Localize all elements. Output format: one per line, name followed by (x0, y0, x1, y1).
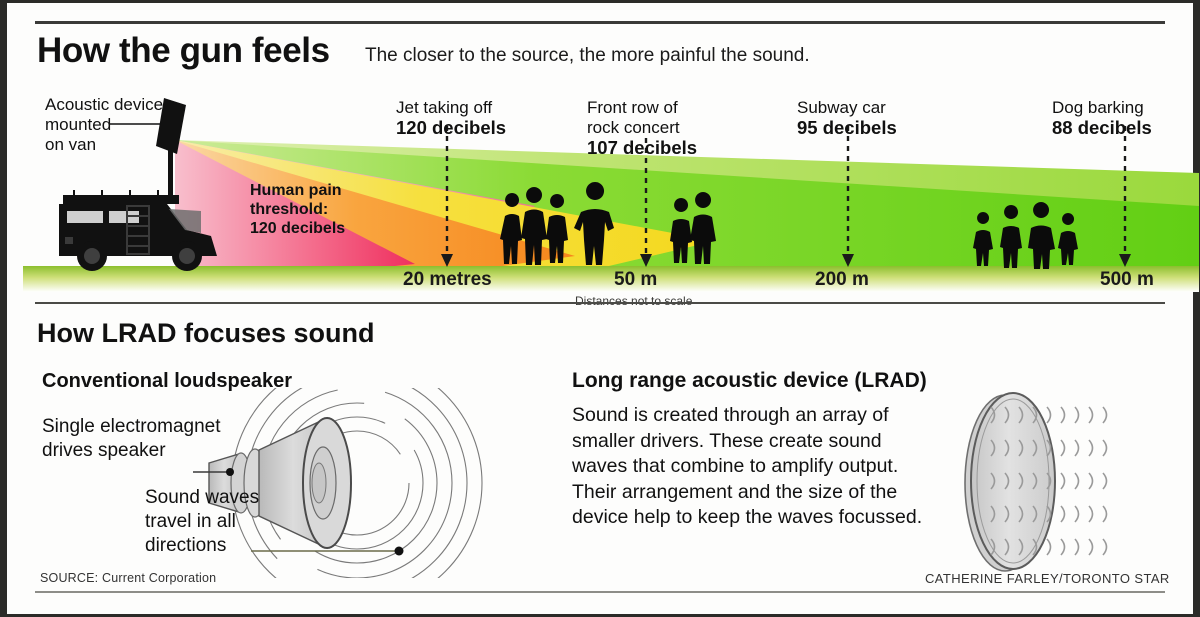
author-credit: CATHERINE FARLEY/TORONTO STAR (925, 571, 1170, 586)
lrad-section-heading: How LRAD focuses sound (37, 318, 375, 349)
electromagnet-callout-line-2: drives speaker (42, 439, 221, 463)
source-credit: SOURCE: Current Corporation (40, 571, 216, 585)
sound-waves-callout-line-2: travel in all (145, 510, 259, 534)
acoustic-device-label-line-2: mounted (45, 115, 163, 135)
marker-value-subway: 95 decibels (797, 117, 897, 138)
section-divider (35, 302, 1165, 304)
page-title: How the gun feels (37, 31, 330, 71)
pain-threshold-line-2: threshold: (250, 200, 345, 219)
sound-waves-callout: Sound waves travel in all directions (145, 486, 259, 558)
scale-note: Distances not to scale (575, 294, 692, 308)
sound-waves-callout-line-3: directions (145, 534, 259, 558)
marker-label-subway: Subway car 95 decibels (797, 98, 897, 139)
acoustic-device-label-line-1: Acoustic device (45, 95, 163, 115)
acoustic-device-label-line-3: on van (45, 135, 163, 155)
marker-name-dog: Dog barking (1052, 98, 1152, 118)
marker-name-subway: Subway car (797, 98, 897, 118)
ground-strip (23, 266, 1199, 292)
page-subtitle: The closer to the source, the more painf… (365, 45, 810, 67)
marker-name-concert-line-2: rock concert (587, 118, 697, 138)
marker-name-concert-line-1: Front row of (587, 98, 697, 118)
marker-value-dog: 88 decibels (1052, 117, 1152, 138)
distance-label-200m: 200 m (815, 269, 869, 291)
acoustic-device-label: Acoustic device mounted on van (45, 95, 163, 155)
marker-label-concert: Front row of rock concert 107 decibels (587, 98, 697, 159)
pain-threshold-callout: Human pain threshold: 120 decibels (250, 181, 345, 238)
marker-label-dog: Dog barking 88 decibels (1052, 98, 1152, 139)
lrad-illustration (947, 385, 1177, 580)
lrad-description: Sound is created through an array of sma… (572, 403, 932, 531)
marker-label-jet: Jet taking off 120 decibels (396, 98, 506, 139)
distance-label-20m: 20 metres (403, 269, 492, 291)
pain-threshold-line-3: 120 decibels (250, 219, 345, 238)
electromagnet-callout-line-1: Single electromagnet (42, 415, 221, 439)
marker-name-jet: Jet taking off (396, 98, 506, 118)
distance-label-50m: 50 m (614, 269, 657, 291)
top-divider (35, 21, 1165, 24)
marker-value-concert: 107 decibels (587, 137, 697, 158)
electromagnet-callout: Single electromagnet drives speaker (42, 415, 221, 463)
infographic-page: How the gun feels The closer to the sour… (0, 0, 1200, 617)
marker-value-jet: 120 decibels (396, 117, 506, 138)
lrad-dish-icon (971, 393, 1055, 569)
sound-waves-callout-line-1: Sound waves (145, 486, 259, 510)
distance-label-500m: 500 m (1100, 269, 1154, 291)
bottom-divider (35, 591, 1165, 593)
lrad-heading: Long range acoustic device (LRAD) (572, 369, 927, 393)
pain-threshold-line-1: Human pain (250, 181, 345, 200)
